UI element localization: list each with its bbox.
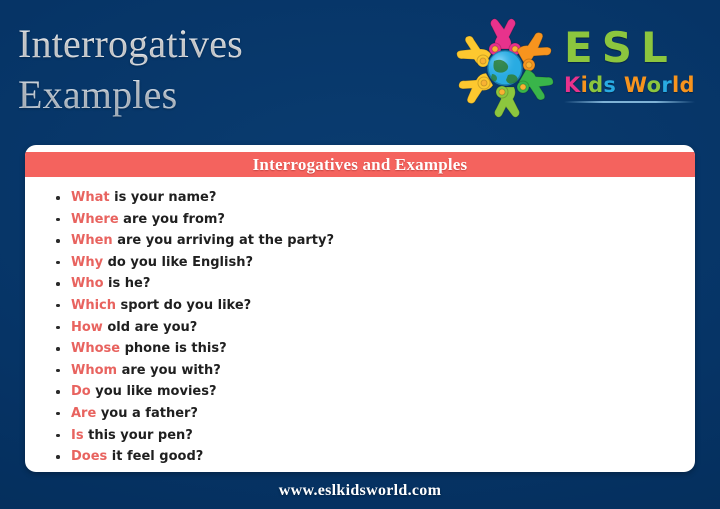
interrogative-word: Whose [71,341,120,356]
logo-kids-world-char [616,73,624,97]
logo-kids-world-char: d [588,73,603,97]
page-title-line-1: Interrogatives [18,18,438,69]
interrogative-word: How [71,320,103,335]
example-sentence-text: you a father? [96,406,198,421]
example-sentence-text: it feel good? [107,449,203,464]
poster-root: Interrogatives Examples [0,0,720,509]
website-url: www.eslkidsworld.com [279,482,441,500]
brand-wordmark: ESL Kids World [564,27,695,108]
list-item: Do you like movies? [49,381,677,403]
interrogative-word: When [71,233,113,248]
logo-kids-world-char: d [679,73,694,97]
logo-kids-world-char: i [581,73,589,97]
page-title-line-2: Examples [18,69,438,120]
logo-kids-world-char: r [661,73,672,97]
example-sentence-text: do you like English? [103,255,253,270]
list-item: Does it feel good? [49,446,677,468]
card-header-bar: Interrogatives and Examples [25,152,695,177]
logo-kids-world-char: s [603,73,616,97]
interrogative-word: What [71,190,110,205]
brand-logo[interactable]: ESL Kids World [450,12,708,124]
example-sentence-text: is your name? [110,190,217,205]
logo-esl-text: ESL [564,27,695,69]
interrogative-word: Whom [71,363,117,378]
example-sentence-text: sport do you like? [116,298,251,313]
logo-kids-world-char: K [564,73,581,97]
poster-footer: www.eslkidsworld.com [0,472,720,509]
interrogative-word: Which [71,298,116,313]
example-sentence-text: are you from? [119,212,225,227]
list-item: Who is he? [49,273,677,295]
logo-kids-world-text: Kids World [564,73,695,97]
logo-underline-divider [564,101,695,103]
list-item: What is your name? [49,187,677,209]
list-item: Is this your pen? [49,425,677,447]
interrogative-examples-list: What is your name?Where are you from?Whe… [49,187,677,468]
interrogative-word: Are [71,406,96,421]
list-item: Whom are you with? [49,360,677,382]
content-card: Interrogatives and Examples What is your… [25,145,695,472]
list-item: Where are you from? [49,209,677,231]
logo-kids-world-char: o [647,73,662,97]
interrogative-word: Where [71,212,119,227]
list-item: Which sport do you like? [49,295,677,317]
example-sentence-text: are you arriving at the party? [113,233,334,248]
page-title: Interrogatives Examples [18,18,438,120]
interrogative-word: Why [71,255,103,270]
interrogative-word: Do [71,384,91,399]
list-item: When are you arriving at the party? [49,230,677,252]
example-sentence-text: this your pen? [84,428,193,443]
card-body: What is your name?Where are you from?Whe… [25,181,695,472]
list-item: How old are you? [49,317,677,339]
interrogative-word: Who [71,276,104,291]
example-sentence-text: old are you? [103,320,197,335]
interrogative-word: Does [71,449,107,464]
example-sentence-text: are you with? [117,363,221,378]
example-sentence-text: is he? [104,276,151,291]
poster-header: Interrogatives Examples [0,0,720,142]
list-item: Why do you like English? [49,252,677,274]
list-item: Whose phone is this? [49,338,677,360]
globe-people-icon [450,13,560,123]
example-sentence-text: you like movies? [91,384,217,399]
card-header-title: Interrogatives and Examples [253,155,468,175]
list-item: Are you a father? [49,403,677,425]
logo-kids-world-char: W [624,73,647,97]
example-sentence-text: phone is this? [120,341,227,356]
interrogative-word: Is [71,428,84,443]
